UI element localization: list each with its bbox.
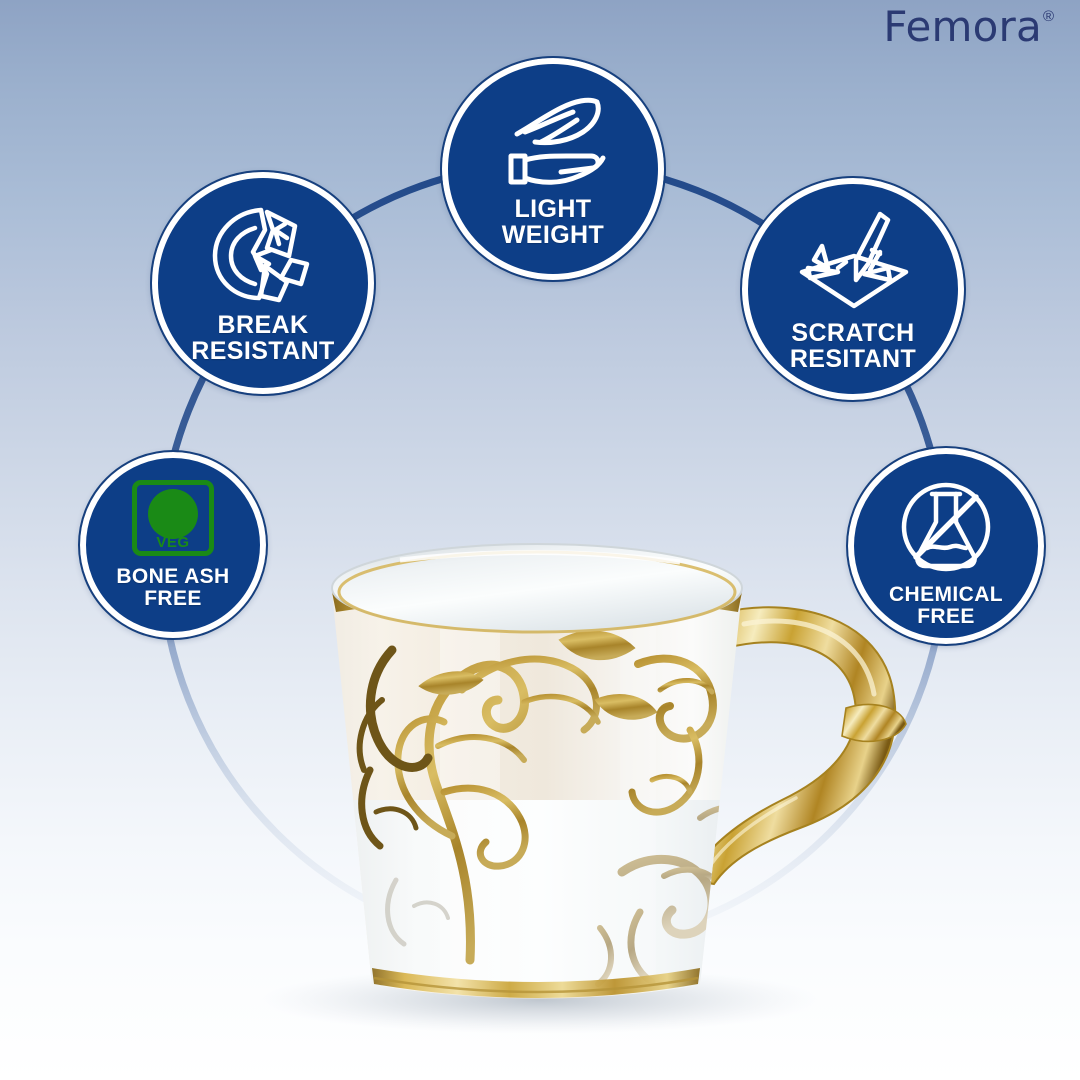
badge-break-resistant[interactable]: BREAK RESISTANT (152, 172, 374, 394)
knife-scratching-surface-icon (748, 210, 958, 312)
veg-mark-text: VEG (132, 534, 214, 551)
badge-label: CHEMICAL FREE (889, 584, 1003, 628)
mug-handle (690, 607, 906, 884)
registered-trademark-icon: ® (1043, 9, 1054, 24)
brand-logo: Femora ® (883, 6, 1054, 48)
badge-chemical-free[interactable]: CHEMICAL FREE (848, 448, 1044, 644)
badge-label: BONE ASH FREE (116, 566, 229, 610)
veg-mark-dot (148, 489, 198, 539)
badge-label: LIGHT WEIGHT (502, 196, 604, 248)
no-chemical-flask-icon (854, 478, 1038, 576)
badge-light-weight[interactable]: LIGHT WEIGHT (442, 58, 664, 280)
infographic-canvas: Femora ® LIGHT WEIGHT (0, 0, 1080, 1080)
shattered-plate-icon (158, 204, 368, 304)
badge-bone-ash-free[interactable]: VEG BONE ASH FREE (80, 452, 266, 638)
hand-holding-feather-icon (448, 86, 658, 190)
brand-name: Femora (883, 6, 1042, 48)
badge-label: SCRATCH RESITANT (790, 320, 916, 372)
badge-scratch-resistant[interactable]: SCRATCH RESITANT (742, 178, 964, 400)
veg-mark-icon: VEG (86, 480, 260, 556)
badge-label: BREAK RESISTANT (191, 312, 334, 364)
